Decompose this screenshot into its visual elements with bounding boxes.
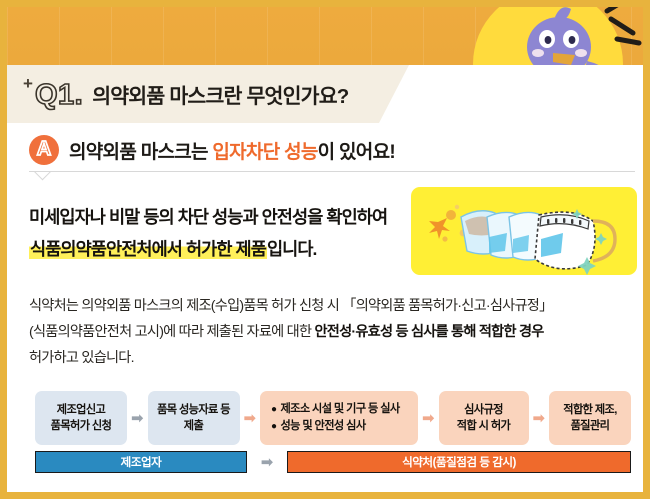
lead-line2-highlight: 식품의약품안전처에서 허가한 제품 xyxy=(29,239,267,259)
footer-note: KF94 Korea Filter KF80 Korea Filter ※ 수출… xyxy=(35,493,631,499)
process-flowchart: 제조업신고 품목허가 신청 ➡ 품목 성능자료 등 제출 ➡ ● 제조소 시설 … xyxy=(35,391,631,473)
mask-layers-illustration xyxy=(411,187,637,275)
answer-row: A 의약외품 마스크는 입자차단 성능이 있어요! xyxy=(29,135,395,165)
flow-step-approval: 심사규정 적합 시 허가 xyxy=(439,391,529,445)
bullet-icon: ● xyxy=(271,419,276,435)
divider-notch-icon xyxy=(31,171,59,184)
plus-icon: + xyxy=(23,74,33,94)
answer-text-after: 이 있어요! xyxy=(318,142,395,163)
answer-badge-icon: A xyxy=(29,135,59,165)
answer-text-highlight: 입자차단 성능 xyxy=(212,142,317,163)
flow-step-line: 품목 성능자료 등 xyxy=(157,402,230,418)
lead-line1-plain: 미세입자나 비말 등의 xyxy=(29,207,178,227)
flow-arrow-icon: ➡ xyxy=(529,391,550,445)
paragraph-line-1: 식약처는 의약외품 마스크의 제조(수입)품목 허가 신청 시 「의약외품 품목… xyxy=(29,298,553,314)
flow-step-line: 품목허가 신청 xyxy=(51,418,112,434)
body-paragraph: 식약처는 의약외품 마스크의 제조(수입)품목 허가 신청 시 「의약외품 품목… xyxy=(29,293,639,371)
kf-badges-group: KF94 Korea Filter KF80 Korea Filter xyxy=(35,493,157,499)
question-title: 의약외품 마스크란 무엇인가요? xyxy=(92,79,348,109)
flow-arrow-icon: ➡ xyxy=(127,391,148,445)
flow-arrow-icon: ➡ xyxy=(418,391,439,445)
flow-responsibility-row: 제조업자 ➡ 식약처(품질점검 등 감시) xyxy=(35,451,631,473)
answer-headline: 의약외품 마스크는 입자차단 성능이 있어요! xyxy=(69,137,395,164)
answer-text-before: 의약외품 마스크는 xyxy=(69,142,212,163)
flow-step-line: 제출 xyxy=(184,418,203,434)
flow-step-line: 적합한 제조, xyxy=(563,402,616,418)
flow-step-line: 품질관리 xyxy=(571,418,610,434)
flow-step-line: 제조소 시설 및 기구 등 실사 xyxy=(280,401,399,417)
question-number: Q1. xyxy=(35,79,83,110)
flow-step-submit-data: 품목 성능자료 등 제출 xyxy=(148,391,240,445)
bar-manufacturer: 제조업자 xyxy=(35,451,247,473)
flow-step-line: 성능 및 안전성 심사 xyxy=(280,418,365,434)
question-band: + Q1. 의약외품 마스크란 무엇인가요? xyxy=(7,65,409,123)
flow-step-inspection: ● 제조소 시설 및 기구 등 실사 ● 성능 및 안전성 심사 xyxy=(260,391,418,445)
footer-note-text: ※ 수출용 보건용마스크의 경우, 식약처 인증 제품에 한해 포장지 앞면에 … xyxy=(171,493,582,499)
flow-arrow-icon: ➡ xyxy=(247,451,287,473)
lead-statement: 미세입자나 비말 등의 차단 성능과 안전성을 확인하여 식품의약품안전처에서 … xyxy=(29,201,397,265)
bullet-icon: ● xyxy=(271,402,276,418)
paragraph-line-2a: (식품의약품안전처 고시)에 따라 제출된 자료에 대한 xyxy=(29,324,314,340)
lead-line2-end: 입니다. xyxy=(267,239,317,259)
flow-step-line: 적합 시 허가 xyxy=(457,418,510,434)
content-card: + Q1. 의약외품 마스크란 무엇인가요? A 의약외품 마스크는 입자차단 … xyxy=(7,65,643,492)
flow-step-line: 제조업신고 xyxy=(57,402,105,418)
flow-step-bullet-item: ● 성능 및 안전성 심사 xyxy=(271,418,366,435)
lead-line1-bold: 차단 성능과 안전성을 확인하여 xyxy=(178,207,388,227)
flow-step-manufacturer-report: 제조업신고 품목허가 신청 xyxy=(35,391,127,445)
flow-step-quality-control: 적합한 제조, 품질관리 xyxy=(549,391,631,445)
paragraph-line-2b: 안전성·유효성 등 심사를 통해 적합한 경우 xyxy=(314,324,543,340)
section-divider xyxy=(29,171,635,172)
flow-step-line: 심사규정 xyxy=(464,402,503,418)
flow-step-bullet-item: ● 제조소 시설 및 기구 등 실사 xyxy=(271,401,400,418)
infographic-root: + Q1. 의약외품 마스크란 무엇인가요? A 의약외품 마스크는 입자차단 … xyxy=(0,0,650,499)
answer-badge-letter: A xyxy=(37,139,51,161)
bar-mfds: 식약처(품질점검 등 감시) xyxy=(287,451,631,473)
flow-arrow-icon: ➡ xyxy=(240,391,261,445)
flow-steps-row: 제조업신고 품목허가 신청 ➡ 품목 성능자료 등 제출 ➡ ● 제조소 시설 … xyxy=(35,391,631,445)
paragraph-line-3: 허가하고 있습니다. xyxy=(29,350,134,366)
